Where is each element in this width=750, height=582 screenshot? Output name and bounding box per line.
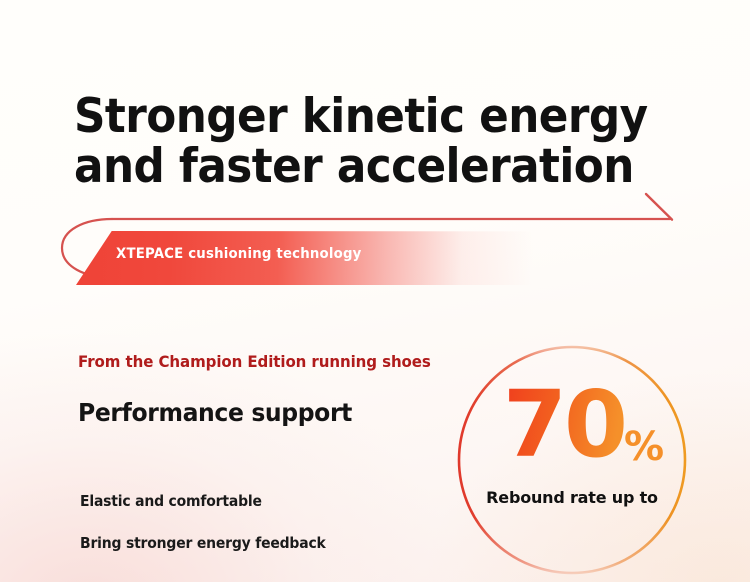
rebound-rate-number: 70 bbox=[503, 378, 625, 474]
rebound-rate-caption: Rebound rate up to bbox=[452, 488, 692, 507]
page-title: Stronger kinetic energy and faster accel… bbox=[74, 92, 632, 192]
technology-banner: XTEPACE cushioning technology bbox=[76, 231, 546, 285]
headline-line-2: and faster acceleration bbox=[74, 142, 632, 192]
promo-poster: Stronger kinetic energy and faster accel… bbox=[0, 0, 750, 582]
rebound-rate-badge: 70 % Rebound rate up to bbox=[452, 334, 692, 582]
feature-item-2: Bring stronger energy feedback bbox=[80, 534, 326, 552]
headline-line-1: Stronger kinetic energy bbox=[74, 92, 632, 142]
rebound-rate-value: 70 % bbox=[452, 378, 692, 474]
arrow-head-icon bbox=[646, 194, 672, 220]
section-subhead: Performance support bbox=[78, 398, 352, 427]
feature-item-1: Elastic and comfortable bbox=[80, 492, 262, 510]
banner-label: XTEPACE cushioning technology bbox=[116, 246, 362, 262]
eyebrow-text: From the Champion Edition running shoes bbox=[78, 352, 431, 371]
percent-symbol: % bbox=[624, 424, 664, 470]
